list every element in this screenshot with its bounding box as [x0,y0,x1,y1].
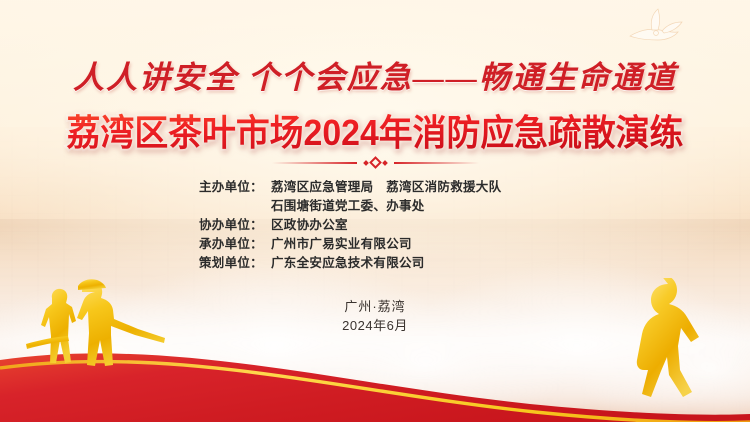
organizer-value: 石围塘街道党工委、办事处 [263,197,571,216]
organizer-row: 协办单位： 区政协办公室 [179,216,571,235]
decorative-divider [0,158,750,167]
organizer-label [179,197,263,216]
poster-footer: 广州·荔湾 2024年6月 [0,297,750,335]
organizer-row: 策划单位： 广东全安应急技术有限公司 [179,254,571,273]
organizer-row: 石围塘街道党工委、办事处 [179,197,571,216]
divider-line-right [394,162,479,164]
organizer-label: 主办单位： [179,178,263,197]
slogan-text: 人人讲安全 个个会应急——畅通生命通道 [0,52,750,97]
divider-diamond [369,156,382,169]
organizer-value: 广东全安应急技术有限公司 [263,254,571,273]
organizer-label: 协办单位： [179,216,263,235]
organizer-value: 区政协办公室 [263,216,571,235]
organizer-value: 荔湾区应急管理局 荔湾区消防救援大队 [263,178,571,197]
organizer-value: 广州市广易实业有限公司 [263,235,571,254]
organizer-label: 策划单位： [179,254,263,273]
diamond-ornament-icon [357,158,394,167]
organizer-row: 承办单位： 广州市广易实业有限公司 [179,235,571,254]
organizer-row: 主办单位： 荔湾区应急管理局 荔湾区消防救援大队 [179,178,571,197]
organizer-label: 承办单位： [179,235,263,254]
footer-place: 广州·荔湾 [0,297,750,316]
organizer-list: 主办单位： 荔湾区应急管理局 荔湾区消防救援大队 石围塘街道党工委、办事处 协办… [0,178,750,273]
page-title: 荔湾区茶叶市场2024年消防应急疏散演练 [23,104,728,156]
divider-dot-left [363,160,369,166]
footer-date: 2024年6月 [0,316,750,335]
fire-drill-poster: 人人讲安全 个个会应急——畅通生命通道 荔湾区茶叶市场2024年消防应急疏散演练… [0,0,750,422]
divider-dot-right [382,160,388,166]
divider-line-left [272,162,357,164]
